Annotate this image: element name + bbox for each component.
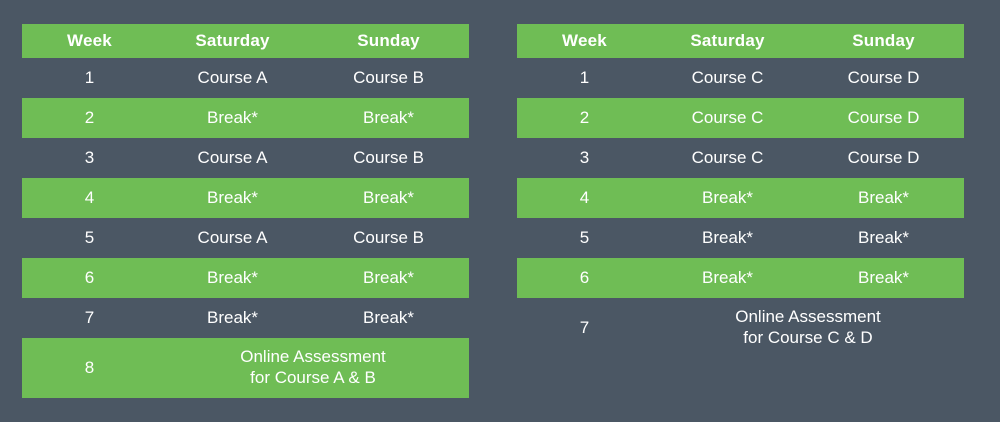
column-header-saturday: Saturday xyxy=(157,24,308,58)
tables-container: WeekSaturdaySunday1Course ACourse B2Brea… xyxy=(0,0,1000,398)
cell-saturday: Break* xyxy=(652,218,803,258)
schedule-left: WeekSaturdaySunday1Course ACourse B2Brea… xyxy=(22,24,469,398)
column-header-saturday: Saturday xyxy=(652,24,803,58)
cell-week: 5 xyxy=(22,218,157,258)
cell-week: 5 xyxy=(517,218,652,258)
table-row: 7Break*Break* xyxy=(22,298,469,338)
cell-sunday: Break* xyxy=(803,258,964,298)
cell-week: 2 xyxy=(517,98,652,138)
cell-sunday: Course D xyxy=(803,138,964,178)
cell-sunday: Course B xyxy=(308,138,469,178)
cell-sunday: Break* xyxy=(803,178,964,218)
schedule-right: WeekSaturdaySunday1Course CCourse D2Cour… xyxy=(517,24,964,358)
assessment-text: Online Assessmentfor Course A & B xyxy=(157,347,469,388)
cell-saturday: Course A xyxy=(157,58,308,98)
cell-sunday: Break* xyxy=(308,178,469,218)
cell-saturday: Course C xyxy=(652,138,803,178)
table-header-row: WeekSaturdaySunday xyxy=(22,24,469,58)
table-row: 2Break*Break* xyxy=(22,98,469,138)
cell-sunday: Break* xyxy=(308,258,469,298)
table-row: 8Online Assessmentfor Course A & B xyxy=(22,338,469,398)
cell-saturday: Break* xyxy=(157,258,308,298)
schedule-page: WeekSaturdaySunday1Course ACourse B2Brea… xyxy=(0,0,1000,422)
cell-week: 2 xyxy=(22,98,157,138)
cell-sunday: Course B xyxy=(308,218,469,258)
cell-saturday: Break* xyxy=(157,98,308,138)
table-row: 5Break*Break* xyxy=(517,218,964,258)
cell-sunday: Course B xyxy=(308,58,469,98)
cell-week: 3 xyxy=(517,138,652,178)
cell-saturday: Course C xyxy=(652,58,803,98)
cell-online-assessment: Online Assessmentfor Course C & D xyxy=(652,298,964,358)
table-row: 1Course CCourse D xyxy=(517,58,964,98)
table-row: 3Course ACourse B xyxy=(22,138,469,178)
cell-week: 3 xyxy=(22,138,157,178)
table-row: 5Course ACourse B xyxy=(22,218,469,258)
table-row: 4Break*Break* xyxy=(22,178,469,218)
cell-online-assessment: Online Assessmentfor Course A & B xyxy=(157,338,469,398)
column-header-sunday: Sunday xyxy=(803,24,964,58)
cell-sunday: Break* xyxy=(308,98,469,138)
cell-week: 6 xyxy=(22,258,157,298)
table-row: 7Online Assessmentfor Course C & D xyxy=(517,298,964,358)
cell-saturday: Break* xyxy=(157,178,308,218)
column-header-week: Week xyxy=(517,24,652,58)
cell-week: 1 xyxy=(517,58,652,98)
cell-saturday: Break* xyxy=(652,258,803,298)
cell-week: 8 xyxy=(22,338,157,398)
cell-week: 1 xyxy=(22,58,157,98)
table-row: 1Course ACourse B xyxy=(22,58,469,98)
cell-week: 6 xyxy=(517,258,652,298)
cell-week: 7 xyxy=(22,298,157,338)
assessment-text: Online Assessmentfor Course C & D xyxy=(652,307,964,348)
table-row: 4Break*Break* xyxy=(517,178,964,218)
column-header-week: Week xyxy=(22,24,157,58)
cell-sunday: Break* xyxy=(803,218,964,258)
cell-saturday: Course A xyxy=(157,138,308,178)
cell-week: 4 xyxy=(517,178,652,218)
table-row: 3Course CCourse D xyxy=(517,138,964,178)
cell-sunday: Course D xyxy=(803,58,964,98)
table-row: 6Break*Break* xyxy=(517,258,964,298)
column-header-sunday: Sunday xyxy=(308,24,469,58)
cell-sunday: Course D xyxy=(803,98,964,138)
cell-saturday: Break* xyxy=(157,298,308,338)
table-row: 2Course CCourse D xyxy=(517,98,964,138)
cell-week: 7 xyxy=(517,298,652,358)
cell-sunday: Break* xyxy=(308,298,469,338)
table-row: 6Break*Break* xyxy=(22,258,469,298)
table-header-row: WeekSaturdaySunday xyxy=(517,24,964,58)
cell-week: 4 xyxy=(22,178,157,218)
cell-saturday: Course C xyxy=(652,98,803,138)
cell-saturday: Break* xyxy=(652,178,803,218)
cell-saturday: Course A xyxy=(157,218,308,258)
